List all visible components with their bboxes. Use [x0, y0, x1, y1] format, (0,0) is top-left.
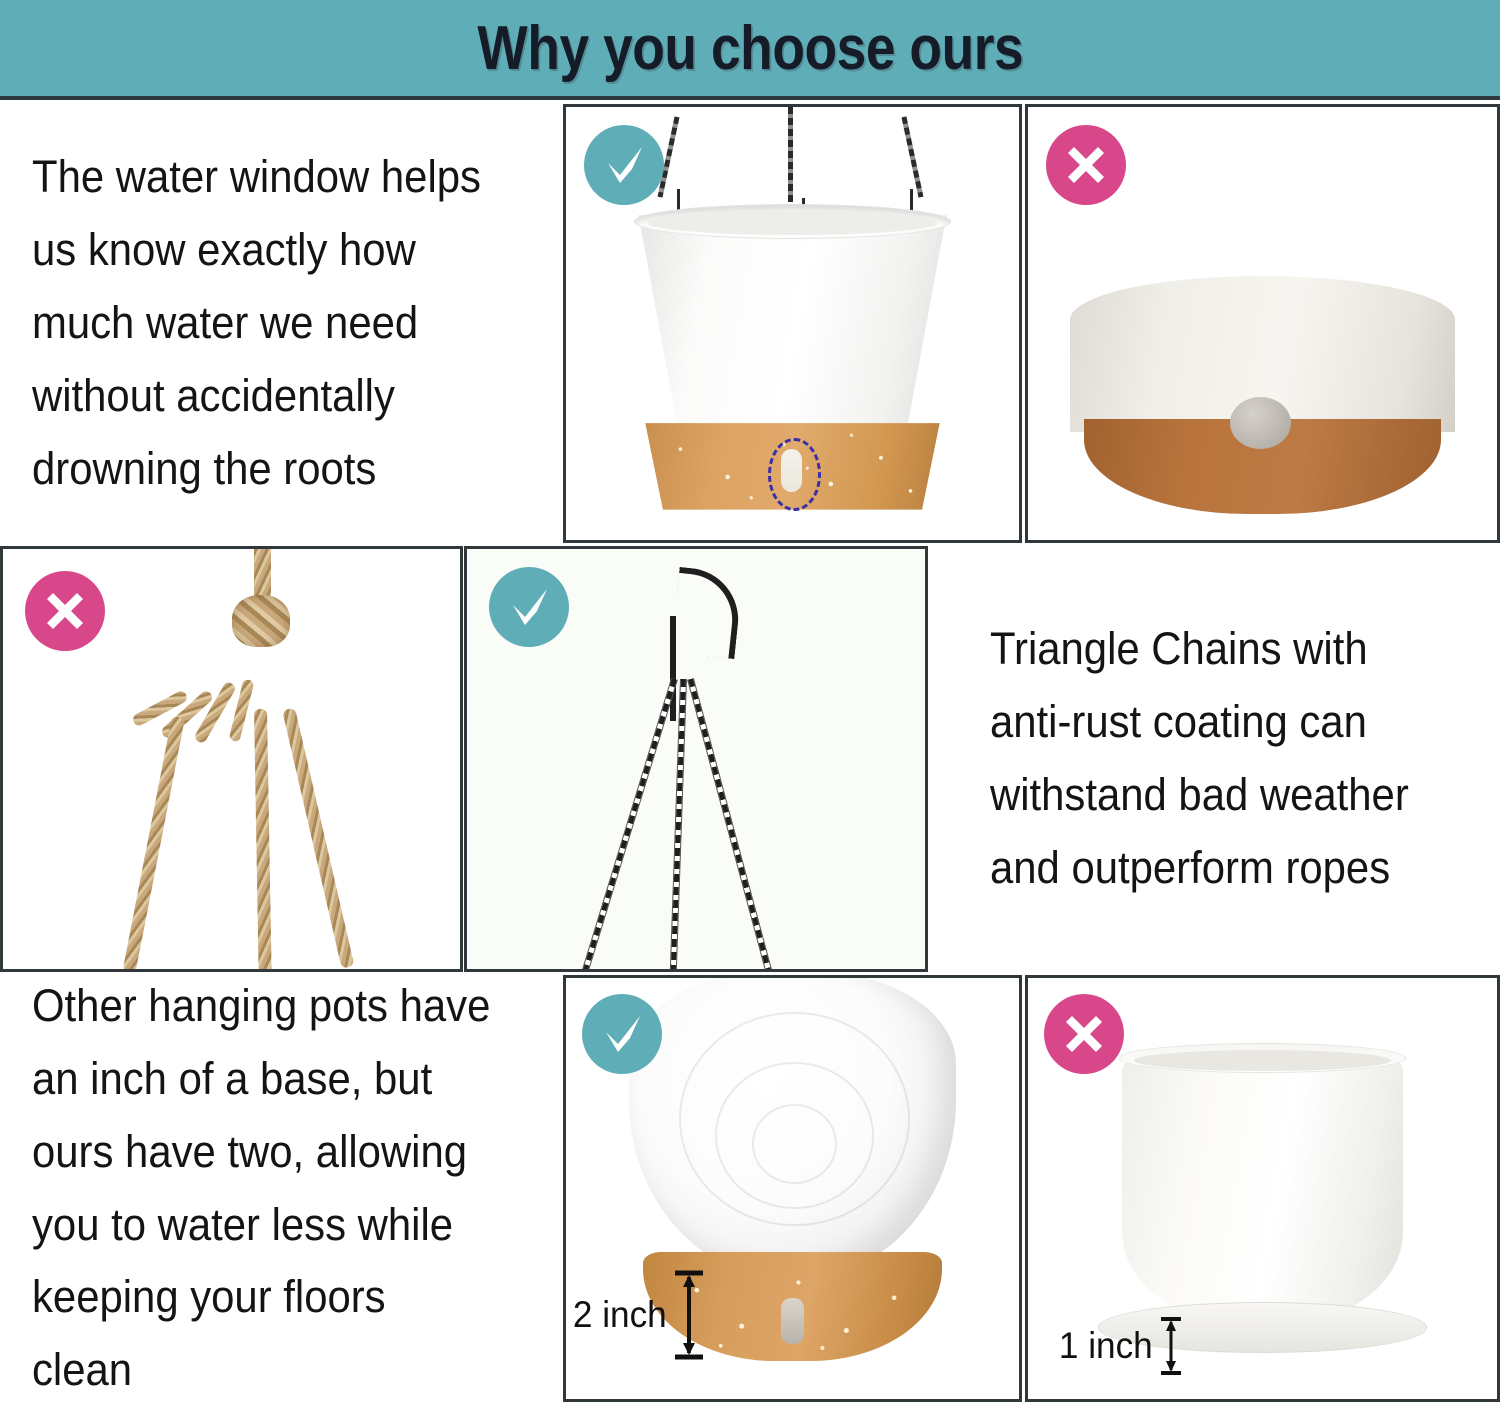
competitor-pot-inner-rim: [1134, 1050, 1392, 1071]
pot-inner-rim: [648, 211, 938, 235]
feature-text-base: Other hanging pots have an inch of a bas…: [0, 975, 560, 1402]
theirs-pot-image-cell: [1025, 104, 1500, 543]
competitor-pot-knob: [1230, 397, 1291, 449]
dimension-arrow-icon: [1157, 1315, 1183, 1377]
infographic-page: Why you choose ours The water window hel…: [0, 0, 1500, 1402]
chain-strand-center: [669, 679, 687, 972]
cross-icon: [1060, 1010, 1108, 1058]
chain-right: [902, 116, 924, 198]
pot-body: [638, 215, 946, 432]
rope-leg-left: [123, 716, 185, 972]
ours-chains-image-cell: [464, 546, 928, 972]
theirs-rope-image-cell: [0, 546, 463, 972]
competitor-white-pot-body: [1122, 1054, 1403, 1323]
measure-1-inch: 1 inch: [1054, 1315, 1183, 1377]
saucer-water-window: [781, 1298, 804, 1344]
rope-leg-right: [282, 707, 354, 968]
cross-badge: [1046, 125, 1126, 205]
page-title: Why you choose ours: [477, 13, 1023, 84]
ours-base-image-cell: 2 inch: [563, 975, 1022, 1402]
feature-text-chains: Triangle Chains with anti-rust coating c…: [932, 546, 1500, 972]
chain-center: [788, 107, 793, 202]
rope-leg-center: [254, 708, 272, 972]
feature-text-water-window: The water window helps us know exactly h…: [0, 104, 560, 543]
measure-2-inch-label: 2 inch: [573, 1294, 667, 1336]
measure-1-inch-label: 1 inch: [1059, 1325, 1153, 1367]
chain-strand-left: [581, 678, 677, 972]
check-icon: [596, 1008, 648, 1060]
ours-pot-image-cell: [563, 104, 1022, 543]
header-banner: Why you choose ours: [0, 0, 1500, 100]
cross-badge: [1044, 994, 1124, 1074]
theirs-base-image-cell: 1 inch: [1025, 975, 1500, 1402]
feature-text-water-window-label: The water window helps us know exactly h…: [32, 141, 495, 505]
cross-icon: [41, 587, 89, 635]
chain-strand-right: [687, 678, 773, 972]
check-icon: [503, 581, 555, 633]
s-hook-icon: [671, 567, 744, 659]
s-hook-stem: [670, 616, 676, 721]
measure-2-inch: 2 inch: [568, 1269, 705, 1361]
water-window-highlight-ring: [768, 438, 822, 511]
feature-text-chains-label: Triangle Chains with anti-rust coating c…: [990, 613, 1436, 905]
cross-badge: [25, 571, 105, 651]
pot-underside-ring-inner: [752, 1104, 838, 1184]
check-badge: [584, 125, 664, 205]
dimension-arrow-icon: [671, 1269, 705, 1361]
check-badge: [489, 567, 569, 647]
check-icon: [598, 139, 650, 191]
cross-icon: [1062, 141, 1110, 189]
check-badge: [582, 994, 662, 1074]
rope-knot: [232, 595, 290, 647]
feature-text-base-label: Other hanging pots have an inch of a bas…: [32, 975, 495, 1402]
